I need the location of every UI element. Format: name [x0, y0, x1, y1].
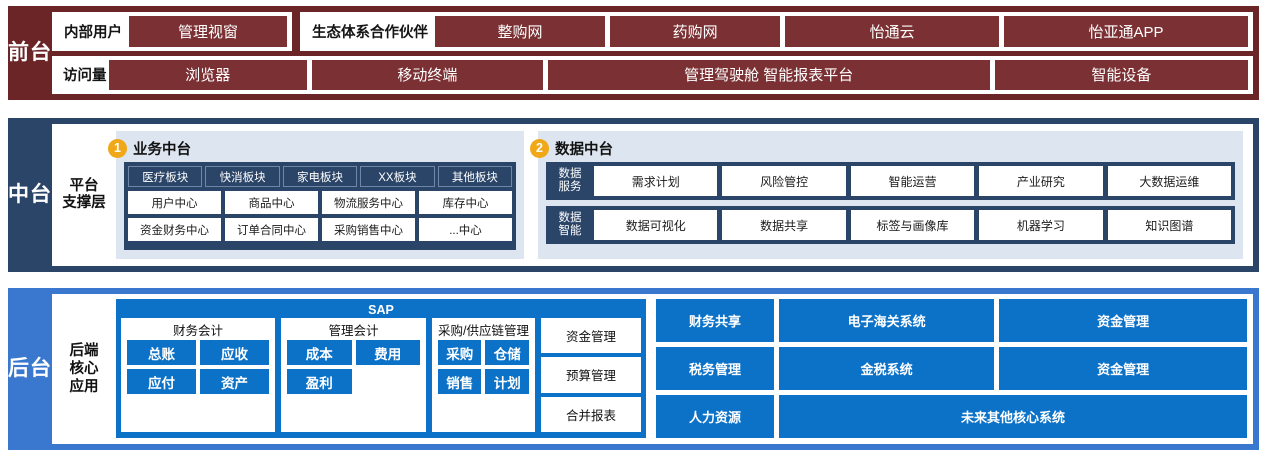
front-group-internal-users: 内部用户 管理视窗	[52, 12, 292, 51]
sap-chip-plan[interactable]: 计划	[485, 369, 528, 394]
front-button-yitongyun[interactable]: 怡通云	[785, 16, 999, 47]
front-row-1: 内部用户 管理视窗 生态体系合作伙伴 整购网 药购网 怡通云 怡亚通APP	[52, 12, 1253, 51]
badge-number-icon: 1	[108, 139, 127, 158]
business-panel-title: 业务中台	[133, 138, 191, 159]
sap-side-column: 资金管理 预算管理 合并报表	[541, 318, 641, 432]
sap-title: SAP	[121, 302, 641, 318]
data-item-visualization[interactable]: 数据可视化	[594, 210, 717, 240]
sap-chip-profit[interactable]: 盈利	[287, 369, 352, 394]
front-office-label: 前 台	[8, 6, 52, 100]
sap-group-procurement-supplychain: 采购/供应链管理 采购 仓储 销售 计划	[432, 318, 535, 432]
sap-group-chips: 成本 费用 盈利	[287, 340, 420, 426]
external-future-core-systems[interactable]: 未来其他核心系统	[779, 395, 1247, 438]
sap-chip-sales[interactable]: 销售	[438, 369, 481, 394]
sap-chip-empty	[356, 369, 421, 394]
center-order-contract[interactable]: 订单合同中心	[225, 218, 318, 241]
data-item-bigdata-ops[interactable]: 大数据运维	[1108, 166, 1231, 196]
business-inner-box: 医疗板块 快消板块 家电板块 XX板块 其他板块 用户中心 商品中心 物流服务中…	[124, 162, 516, 250]
front-group-label: 访问量	[57, 64, 109, 85]
back-label-line2: 台	[30, 358, 52, 380]
sap-chip-general-ledger[interactable]: 总账	[127, 340, 196, 365]
sap-chip-asset[interactable]: 资产	[200, 369, 269, 394]
data-panel-header: 2 数据中台	[546, 138, 1235, 158]
sap-columns: 财务会计 总账 应收 应付 资产 管理会计 成本	[121, 318, 641, 432]
business-middle-platform-panel: 1 业务中台 医疗板块 快消板块 家电板块 XX板块 其他板块 用户中心	[116, 131, 524, 259]
sap-chip-purchase[interactable]: 采购	[438, 340, 481, 365]
front-button-management-cockpit[interactable]: 管理驾驶舱 智能报表平台	[548, 60, 990, 91]
middle-label-line2: 台	[30, 184, 52, 206]
external-row-1: 财务共享 电子海关系统 资金管理	[656, 299, 1247, 342]
external-systems-grid: 财务共享 电子海关系统 资金管理 税务管理 金税系统 资金管理 人力资源 未来其…	[656, 299, 1247, 438]
data-item-machine-learning[interactable]: 机器学习	[979, 210, 1102, 240]
external-human-resources[interactable]: 人力资源	[656, 395, 774, 438]
sap-chip-warehouse[interactable]: 仓储	[485, 340, 528, 365]
data-service-line2: 服务	[559, 181, 582, 194]
sap-group-chips: 总账 应收 应付 资产	[127, 340, 269, 426]
sap-chip-payable[interactable]: 应付	[127, 369, 196, 394]
data-item-demand-plan[interactable]: 需求计划	[594, 166, 717, 196]
center-product[interactable]: 商品中心	[225, 191, 318, 214]
front-group-visits: 访问量 浏览器 移动终端 管理驾驶舱 智能报表平台 智能设备	[52, 56, 1253, 95]
support-line2: 支撑层	[62, 195, 106, 212]
plate-appliance[interactable]: 家电板块	[283, 166, 357, 187]
external-e-customs-system[interactable]: 电子海关系统	[779, 299, 994, 342]
front-button-guanlishichuang[interactable]: 管理视窗	[129, 16, 287, 47]
business-center-row-1: 用户中心 商品中心 物流服务中心 库存中心	[128, 191, 512, 214]
data-intelligence-label: 数据 智能	[550, 210, 590, 240]
sap-group-title: 采购/供应链管理	[438, 322, 529, 340]
middle-label-line1: 中	[8, 184, 30, 206]
external-finance-sharing[interactable]: 财务共享	[656, 299, 774, 342]
center-purchase-sales[interactable]: 采购销售中心	[322, 218, 415, 241]
external-tax-management[interactable]: 税务管理	[656, 347, 774, 390]
front-button-yaogouwang[interactable]: 药购网	[610, 16, 780, 47]
back-office-band: 后 台 后端 核心 应用 SAP 财务会计	[8, 288, 1259, 450]
data-service-items: 需求计划 风险管控 智能运营 产业研究 大数据运维	[594, 166, 1231, 196]
platform-support-layer-label: 平台 支撑层	[52, 124, 116, 266]
support-line1: 平台	[62, 178, 106, 195]
front-button-smart-device[interactable]: 智能设备	[995, 60, 1248, 91]
center-logistics-service[interactable]: 物流服务中心	[322, 191, 415, 214]
data-item-industry-research[interactable]: 产业研究	[979, 166, 1102, 196]
plate-other[interactable]: 其他板块	[438, 166, 512, 187]
front-button-browser[interactable]: 浏览器	[109, 60, 308, 91]
center-fund-finance[interactable]: 资金财务中心	[128, 218, 221, 241]
sap-box: SAP 财务会计 总账 应收 应付 资产 管理会计	[116, 299, 646, 438]
front-button-yiyatong-app[interactable]: 怡亚通APP	[1004, 16, 1248, 47]
data-intel-line2: 智能	[559, 225, 582, 238]
middle-columns: 1 业务中台 医疗板块 快消板块 家电板块 XX板块 其他板块 用户中心	[116, 124, 1253, 266]
business-plate-row: 医疗板块 快消板块 家电板块 XX板块 其他板块	[128, 166, 512, 187]
data-item-risk-control[interactable]: 风险管控	[722, 166, 845, 196]
sap-chip-receivable[interactable]: 应收	[200, 340, 269, 365]
business-panel-header: 1 业务中台	[124, 138, 516, 158]
data-panel-title: 数据中台	[555, 138, 613, 159]
architecture-diagram: 前 台 内部用户 管理视窗 生态体系合作伙伴 整购网 药购网 怡通云 怡亚通AP…	[0, 0, 1267, 457]
plate-fmcg[interactable]: 快消板块	[205, 166, 279, 187]
front-group-eco-partners: 生态体系合作伙伴 整购网 药购网 怡通云 怡亚通APP	[300, 12, 1253, 51]
data-intelligence-row: 数据 智能 数据可视化 数据共享 标签与画像库 机器学习 知识图谱	[546, 206, 1235, 244]
middle-platform-label: 中 台	[8, 118, 52, 272]
center-ellipsis[interactable]: ...中心	[419, 218, 512, 241]
data-service-label: 数据 服务	[550, 166, 590, 196]
data-item-tag-image-library[interactable]: 标签与画像库	[851, 210, 974, 240]
front-button-zhenggouwang[interactable]: 整购网	[435, 16, 605, 47]
sap-group-management-accounting: 管理会计 成本 费用 盈利	[281, 318, 426, 432]
sap-side-consolidated-report[interactable]: 合并报表	[541, 397, 641, 432]
core-line1: 后端	[70, 342, 99, 360]
data-intelligence-items: 数据可视化 数据共享 标签与画像库 机器学习 知识图谱	[594, 210, 1231, 240]
data-item-sharing[interactable]: 数据共享	[722, 210, 845, 240]
external-fund-management-1[interactable]: 资金管理	[999, 299, 1247, 342]
back-main-area: SAP 财务会计 总账 应收 应付 资产 管理会计	[116, 294, 1253, 444]
front-group-label: 内部用户	[57, 21, 129, 42]
business-center-row-2: 资金财务中心 订单合同中心 采购销售中心 ...中心	[128, 218, 512, 241]
external-row-2: 税务管理 金税系统 资金管理	[656, 347, 1247, 390]
sap-group-chips: 采购 仓储 销售 计划	[438, 340, 529, 426]
front-button-mobile-terminal[interactable]: 移动终端	[312, 60, 543, 91]
external-row-3: 人力资源 未来其他核心系统	[656, 395, 1247, 438]
core-line3: 应用	[70, 378, 99, 396]
data-item-smart-operation[interactable]: 智能运营	[851, 166, 974, 196]
data-service-row: 数据 服务 需求计划 风险管控 智能运营 产业研究 大数据运维	[546, 162, 1235, 200]
badge-number-icon: 2	[530, 139, 549, 158]
data-item-knowledge-graph[interactable]: 知识图谱	[1108, 210, 1231, 240]
front-office-body: 内部用户 管理视窗 生态体系合作伙伴 整购网 药购网 怡通云 怡亚通APP 访问…	[52, 12, 1253, 94]
external-fund-management-2[interactable]: 资金管理	[999, 347, 1247, 390]
sap-side-budget-management[interactable]: 预算管理	[541, 357, 641, 392]
data-service-line1: 数据	[559, 168, 582, 181]
front-group-label: 生态体系合作伙伴	[305, 21, 435, 42]
plate-medical[interactable]: 医疗板块	[128, 166, 202, 187]
sap-group-financial-accounting: 财务会计 总账 应收 应付 资产	[121, 318, 275, 432]
sap-group-title: 管理会计	[287, 322, 420, 340]
middle-platform-band: 中 台 平台 支撑层 1 业务中台 医疗	[8, 118, 1259, 272]
middle-platform-body: 平台 支撑层 1 业务中台 医疗板块 快消板块 家电板块	[52, 124, 1253, 266]
backend-core-application-label: 后端 核心 应用	[52, 294, 116, 444]
front-label-line2: 台	[30, 42, 52, 64]
back-label-line1: 后	[8, 358, 30, 380]
plate-xx[interactable]: XX板块	[360, 166, 434, 187]
front-label-line1: 前	[8, 42, 30, 64]
sap-group-title: 财务会计	[127, 322, 269, 340]
sap-chip-expense[interactable]: 费用	[356, 340, 421, 365]
external-golden-tax-system[interactable]: 金税系统	[779, 347, 994, 390]
core-line2: 核心	[70, 360, 99, 378]
sap-chip-cost[interactable]: 成本	[287, 340, 352, 365]
back-office-label: 后 台	[8, 288, 52, 450]
center-user[interactable]: 用户中心	[128, 191, 221, 214]
back-office-body: 后端 核心 应用 SAP 财务会计 总账 应收 应	[52, 294, 1253, 444]
sap-side-fund-management[interactable]: 资金管理	[541, 318, 641, 353]
center-inventory[interactable]: 库存中心	[419, 191, 512, 214]
front-office-band: 前 台 内部用户 管理视窗 生态体系合作伙伴 整购网 药购网 怡通云 怡亚通AP…	[8, 6, 1259, 100]
front-row-2: 访问量 浏览器 移动终端 管理驾驶舱 智能报表平台 智能设备	[52, 56, 1253, 95]
data-middle-platform-panel: 2 数据中台 数据 服务 需求计划 风险管控	[538, 131, 1243, 259]
data-intel-line1: 数据	[559, 212, 582, 225]
